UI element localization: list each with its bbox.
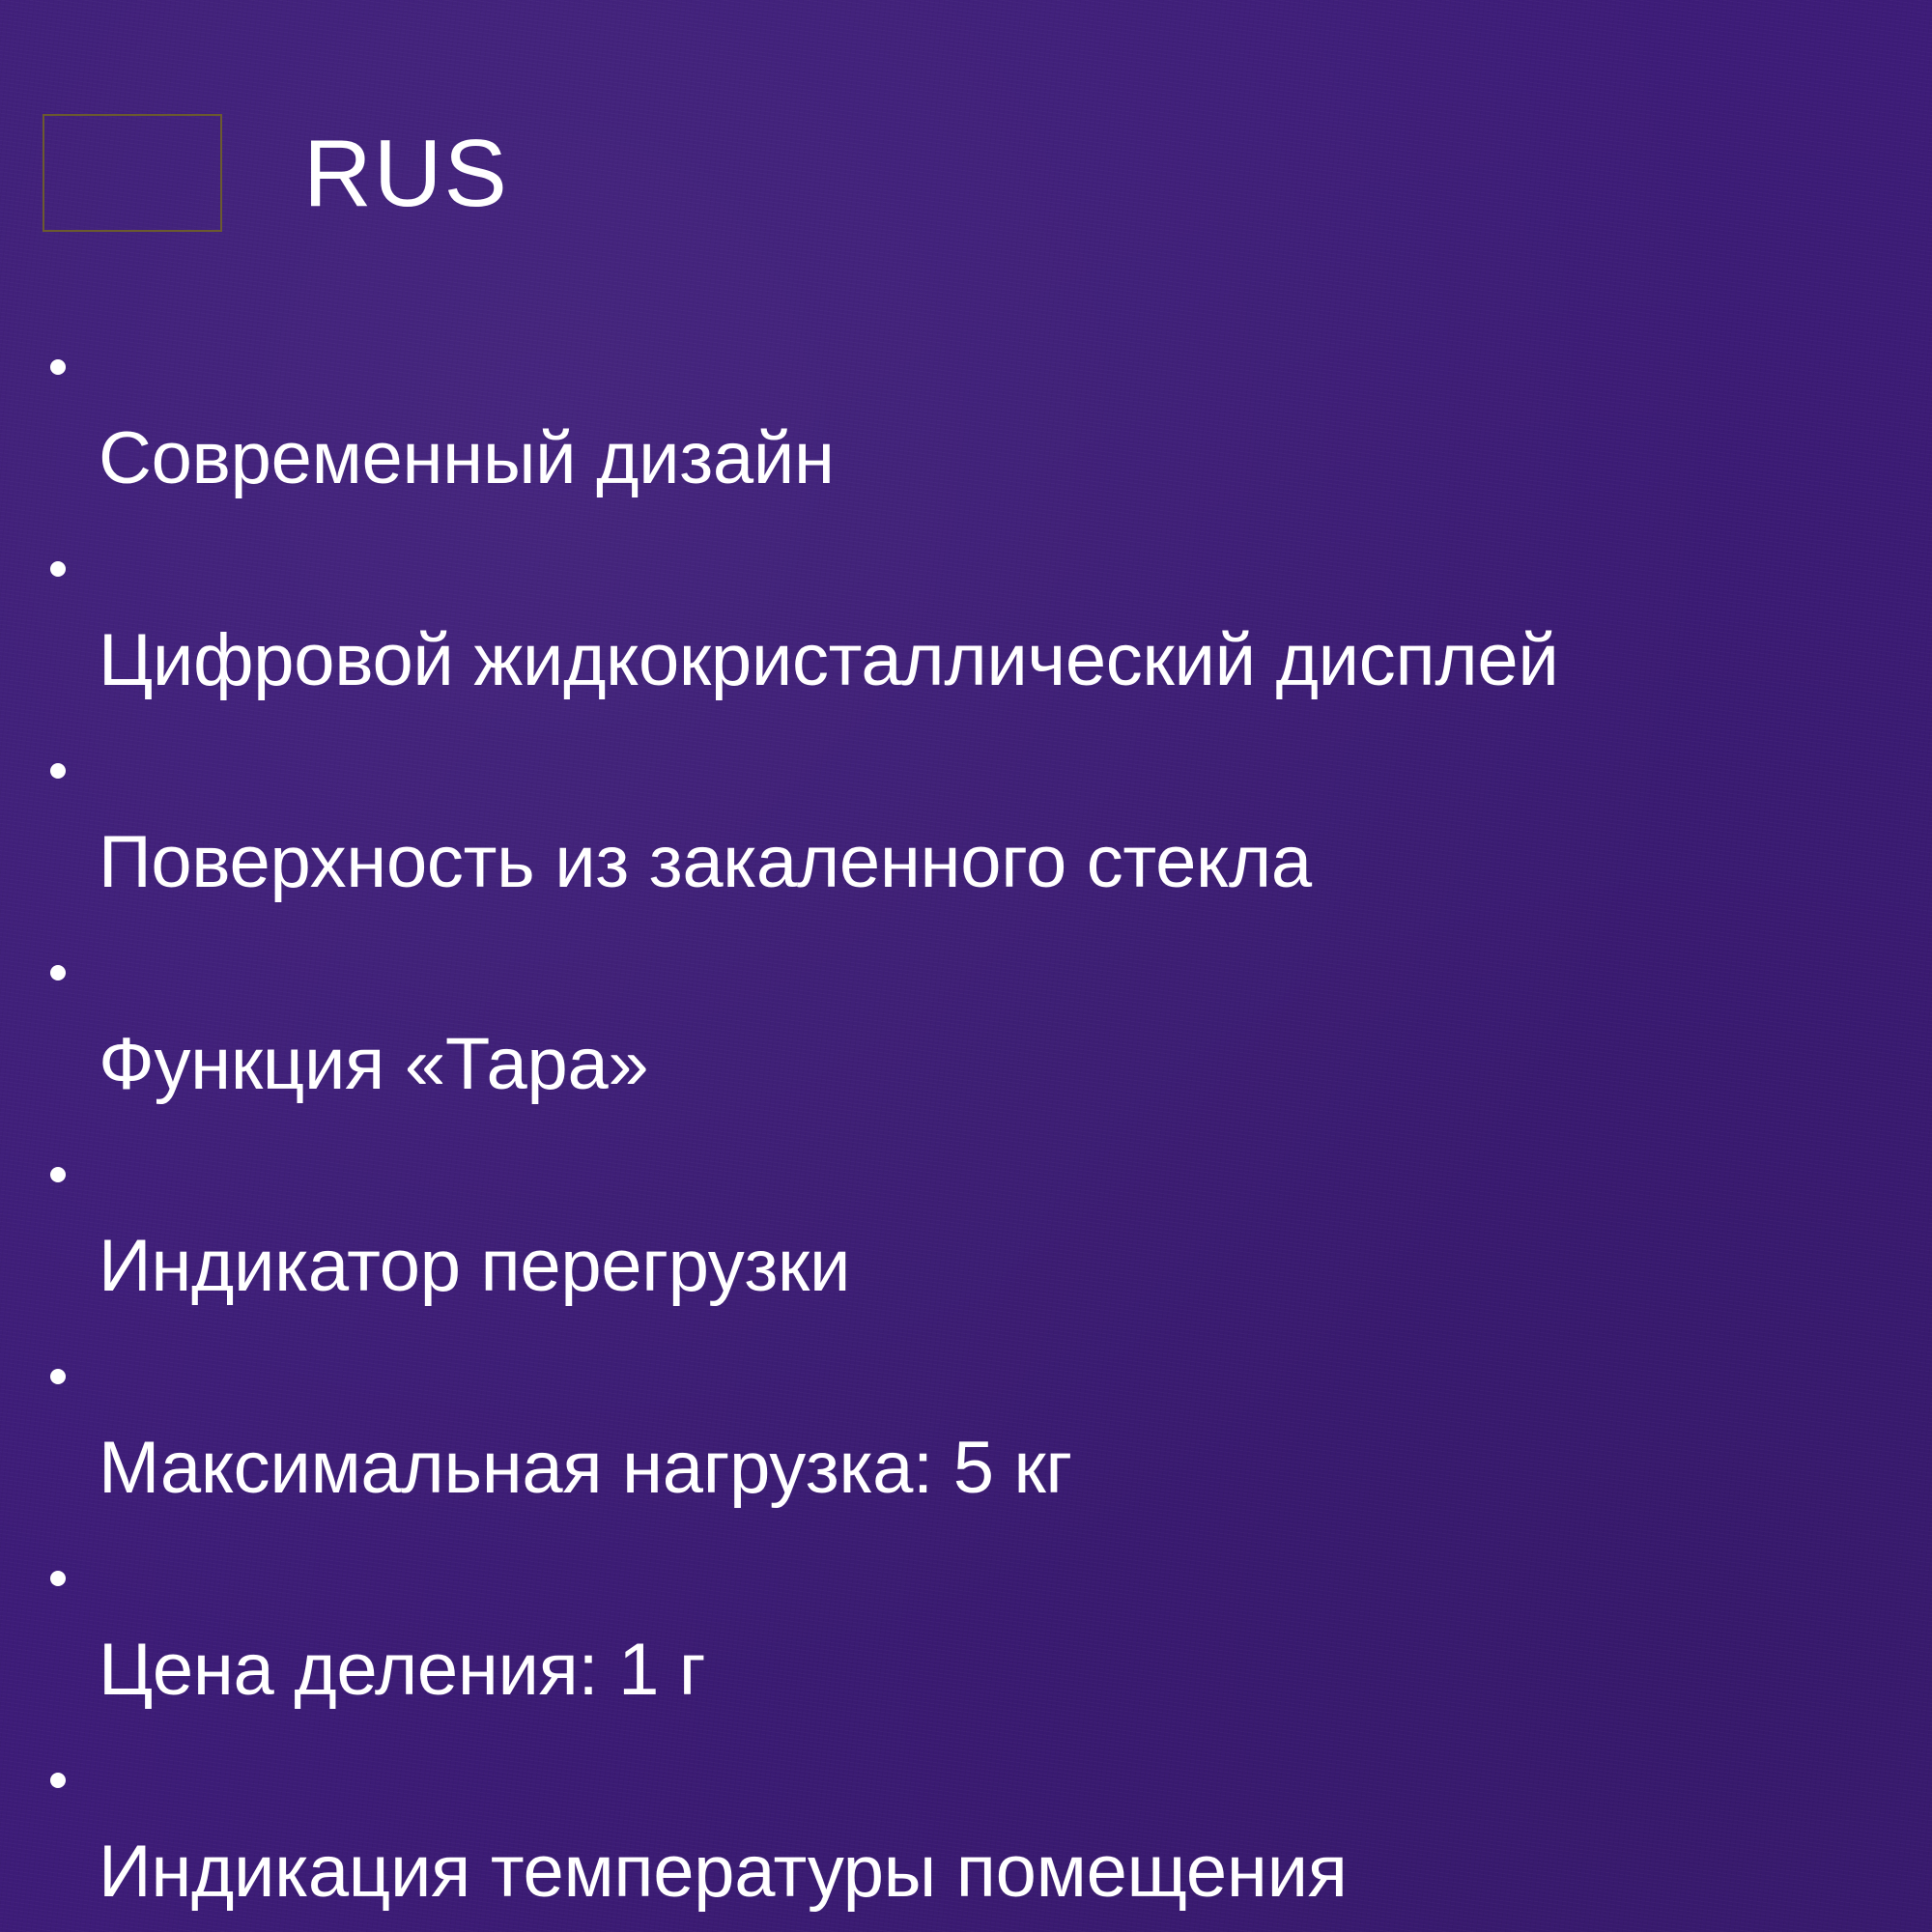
bullet-dot-icon [50, 965, 66, 980]
language-code-label: RUS [303, 126, 509, 220]
feature-list-item: Функция «Тара» [43, 926, 1909, 1110]
bullet-dot-icon [50, 1571, 66, 1586]
bullet-dot-icon [50, 1167, 66, 1182]
bullet-dot-icon [50, 1369, 66, 1384]
feature-list-item: Цена деления: 1 г [43, 1532, 1909, 1716]
feature-item-text: Индикатор перегрузки [99, 1225, 850, 1307]
feature-item-text: Поверхность из закаленного стекла [99, 821, 1312, 903]
feature-item-text: Максимальная нагрузка: 5 кг [99, 1427, 1072, 1509]
feature-list-item: Максимальная нагрузка: 5 кг [43, 1330, 1909, 1514]
feature-item-text: Индикация температуры помещения [99, 1831, 1348, 1913]
feature-item-text: Цифровой жидкокристаллический дисплей [99, 619, 1559, 701]
feature-list: Современный дизайн Цифровой жидкокристал… [43, 321, 1909, 1932]
feature-list-item: Цифровой жидкокристаллический дисплей [43, 523, 1909, 706]
bullet-dot-icon [50, 359, 66, 375]
feature-item-text: Функция «Тара» [99, 1023, 648, 1105]
bullet-dot-icon [50, 1773, 66, 1788]
feature-item-text: Цена деления: 1 г [99, 1629, 705, 1711]
bullet-dot-icon [50, 763, 66, 779]
feature-list-item: Современный дизайн [43, 321, 1909, 504]
feature-list-item: Индикатор перегрузки [43, 1128, 1909, 1312]
feature-list-item: Индикация температуры помещения [43, 1734, 1909, 1918]
language-header: RUS [43, 114, 509, 232]
bullet-dot-icon [50, 561, 66, 577]
package-label-panel: RUS Современный дизайн Цифровой жидкокри… [0, 0, 1932, 1932]
feature-list-item: Поверхность из закаленного стекла [43, 724, 1909, 908]
russia-flag-icon [43, 114, 222, 232]
feature-item-text: Современный дизайн [99, 417, 835, 499]
